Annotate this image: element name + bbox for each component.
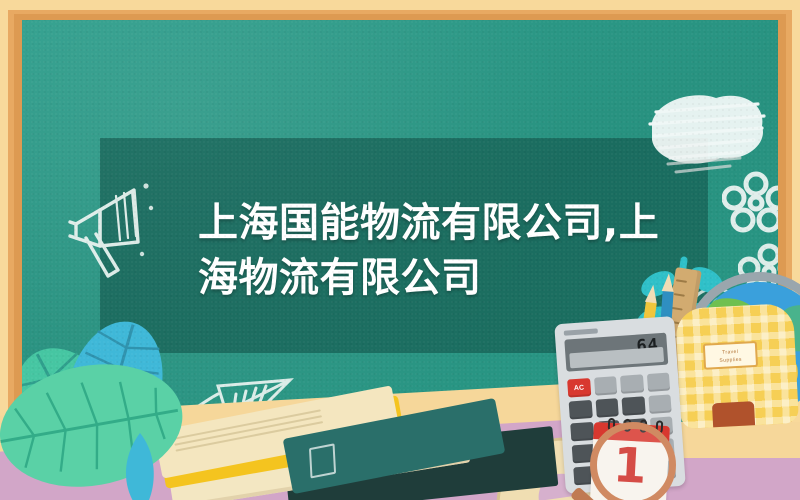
backpack-tag-line1: Travel <box>722 349 738 356</box>
title-line-2: 海物流有限公司 <box>198 251 668 306</box>
banner-canvas: 上海国能物流有限公司,上 海物流有限公司 <box>0 0 800 500</box>
leaf-decoration <box>96 427 186 500</box>
page-title: 上海国能物流有限公司,上 海物流有限公司 <box>198 196 668 306</box>
backpack-tag-line2: Supplies <box>719 357 742 364</box>
flower-icon <box>722 170 778 236</box>
title-line-1: 上海国能物流有限公司,上 <box>198 196 668 251</box>
calculator-ac-key: AC <box>567 378 591 398</box>
backpack-icon: Travel Supplies <box>675 303 799 429</box>
backpack-tag: Travel Supplies <box>703 341 758 370</box>
magnifier-icon <box>590 422 676 500</box>
